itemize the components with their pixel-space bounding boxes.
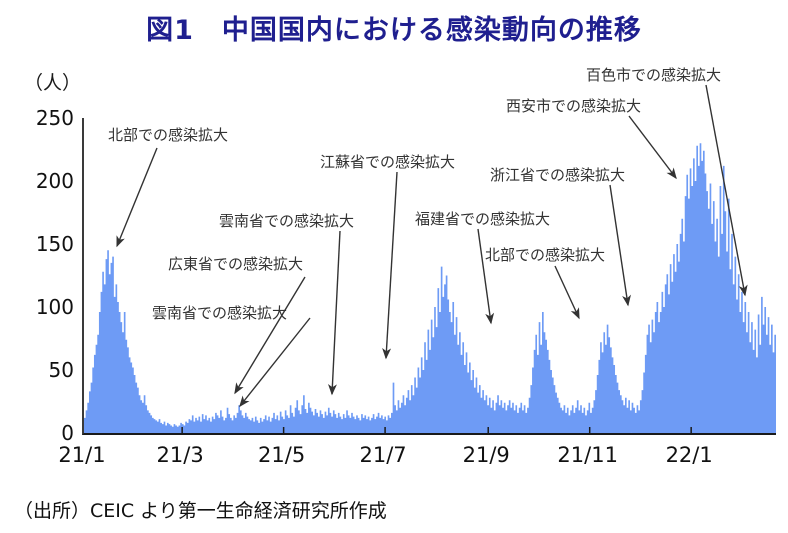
x-axis-tick-labels: 21/121/321/521/721/921/1122/1 — [82, 443, 774, 473]
x-tick-label: 21/5 — [258, 443, 305, 467]
y-tick-label: 150 — [12, 234, 74, 254]
x-tick-label: 21/7 — [359, 443, 406, 467]
bars — [84, 143, 776, 433]
y-tick-label: 100 — [12, 297, 74, 317]
annotation-label: 西安市での感染拡大 — [506, 99, 641, 114]
y-tick-label: 200 — [12, 171, 74, 191]
annotation-label: 百色市での感染拡大 — [586, 68, 721, 83]
plot-area — [82, 118, 776, 435]
x-tick-label: 21/1 — [58, 443, 105, 467]
source-note: （出所）CEIC より第一生命経済研究所作成 — [14, 496, 387, 523]
x-tick-label: 21/9 — [463, 443, 510, 467]
y-tick-label: 250 — [12, 108, 74, 128]
y-tick-label: 50 — [12, 360, 74, 380]
bar-series — [84, 118, 776, 433]
chart-page: 図1 中国国内における感染動向の推移 （人） 050100150200250 2… — [0, 0, 788, 533]
y-tick-label: 0 — [12, 423, 74, 443]
page-title: 図1 中国国内における感染動向の推移 — [0, 8, 788, 47]
x-tick-label: 21/3 — [157, 443, 204, 467]
x-tick-label: 22/1 — [666, 443, 713, 467]
x-tick-label: 21/11 — [557, 443, 618, 467]
